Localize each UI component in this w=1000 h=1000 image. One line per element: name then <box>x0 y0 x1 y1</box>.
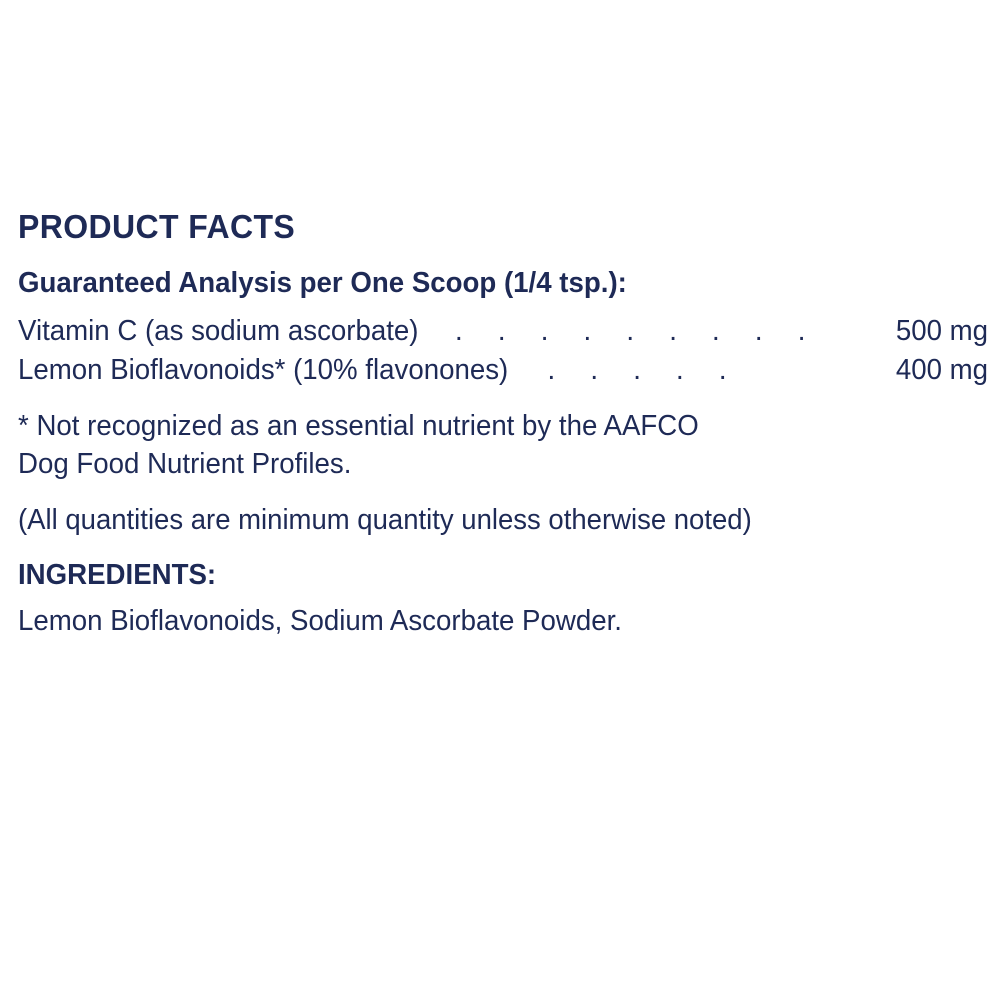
aafco-footnote: * Not recognized as an essential nutrien… <box>18 408 930 484</box>
nutrient-amount: 400 mg <box>896 351 988 390</box>
dot-leader: . . . . . <box>523 351 746 390</box>
nutrient-name: Lemon Bioflavonoids* (10% flavonones) <box>18 351 508 390</box>
product-facts-content: PRODUCT FACTS Guaranteed Analysis per On… <box>18 210 988 641</box>
ingredients-heading: INGREDIENTS: <box>18 561 959 590</box>
page-title: PRODUCT FACTS <box>18 210 959 243</box>
product-facts-panel: PRODUCT FACTS Guaranteed Analysis per On… <box>0 0 1000 1000</box>
nutrient-name: Vitamin C (as sodium ascorbate) <box>18 312 419 351</box>
nutrient-row: Lemon Bioflavonoids* (10% flavonones) . … <box>18 351 988 390</box>
dot-leader: . . . . . . . . . <box>431 312 825 351</box>
minimum-quantity-note: (All quantities are minimum quantity unl… <box>18 502 954 539</box>
nutrient-list: Vitamin C (as sodium ascorbate) . . . . … <box>18 312 988 391</box>
nutrient-row: Vitamin C (as sodium ascorbate) . . . . … <box>18 312 988 351</box>
ingredients-list: Lemon Bioflavonoids, Sodium Ascorbate Po… <box>18 603 959 640</box>
guaranteed-analysis-heading: Guaranteed Analysis per One Scoop (1/4 t… <box>18 269 959 298</box>
nutrient-amount: 500 mg <box>896 312 988 351</box>
